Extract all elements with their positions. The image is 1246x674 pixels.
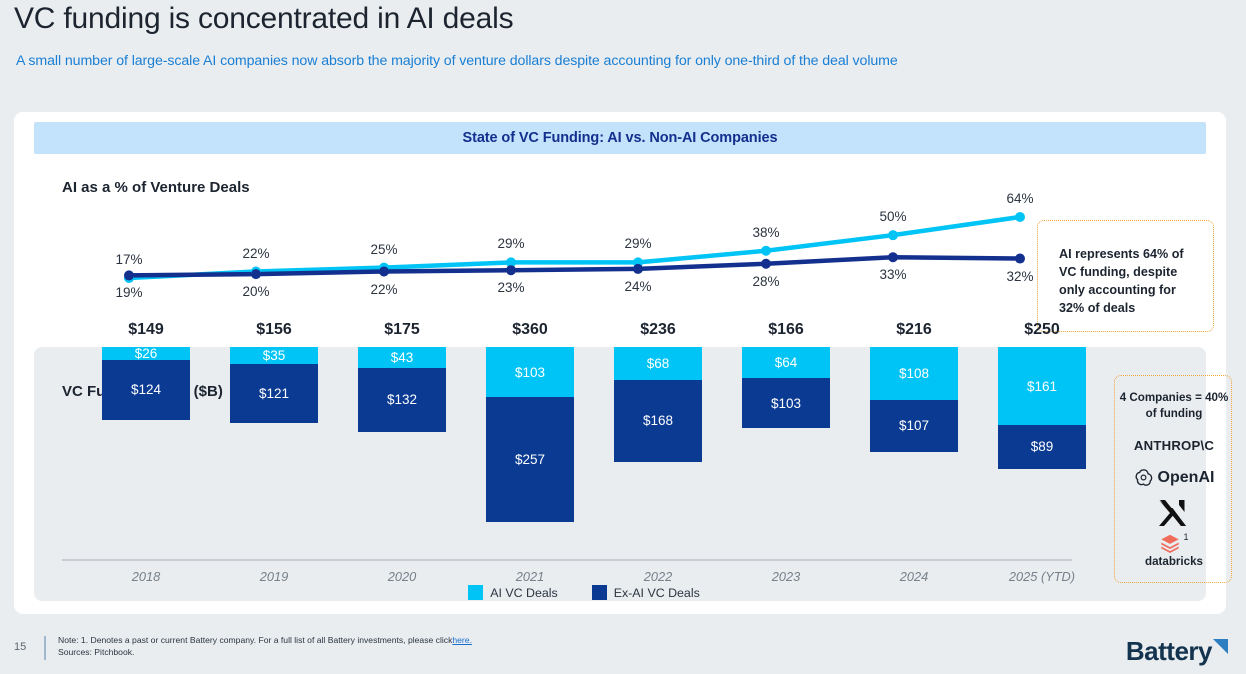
line-value-label-count: 20% [242,284,269,299]
bar-total-label: $250 [1024,321,1060,339]
line-data-point [761,246,771,256]
anthropic-logo: ANTHROP\C [1134,438,1214,453]
legend-item-ai-vc-deals[interactable]: AI VC Deals [468,585,557,600]
line-value-label-funding: 50% [879,209,906,224]
openai-mark-icon [1134,468,1153,487]
page-title: VC funding is concentrated in AI deals [14,2,513,36]
page-subtitle: A small number of large-scale AI compani… [16,53,898,69]
line-value-label-count: 28% [752,274,779,289]
databricks-mark-row: 1 [1159,532,1188,554]
line-data-point [379,267,389,277]
line-value-label-count: 32% [1006,269,1033,284]
battery-logo: Battery [1126,636,1228,667]
company-logo-databricks: 1 databricks [1115,532,1233,568]
legend-item-ex-ai-vc-deals[interactable]: Ex-AI VC Deals [592,585,700,600]
bar-chart-legend: AI VC Deals Ex-AI VC Deals [34,585,1134,600]
footer-note-text: Note: 1. Denotes a past or current Batte… [58,635,452,645]
bar-segment-ex-ai[interactable]: $124 [102,360,190,420]
line-data-point [251,269,261,279]
line-value-label-funding: 38% [752,225,779,240]
chart-banner-label: State of VC Funding: AI vs. Non-AI Compa… [463,130,778,146]
bar-segment-ai[interactable]: $108 [870,347,958,400]
battery-wordmark: Battery [1126,636,1212,667]
line-value-label-funding: 17% [115,252,142,267]
line-chart-callout: AI represents 64% of VC funding, despite… [1037,220,1214,332]
page-number: 15 [14,641,26,653]
line-data-point [761,259,771,269]
bar-segment-ex-ai[interactable]: $121 [230,364,318,423]
databricks-mark-icon [1159,532,1181,554]
line-data-point [888,230,898,240]
footer-note: Note: 1. Denotes a past or current Batte… [58,634,472,658]
line-value-label-funding: 29% [497,236,524,251]
bar-x-axis-label: 2021 [486,569,574,584]
bar-x-axis-label: 2022 [614,569,702,584]
bar-x-axis-label: 2023 [742,569,830,584]
line-data-point [1015,254,1025,264]
bar-x-axis-label: 2024 [870,569,958,584]
bar-chart-callout: 4 Companies = 40% of funding ANTHROP\C O… [1114,375,1232,583]
bar-total-label: $156 [256,321,292,339]
bar-column[interactable]: $216$108$107 [870,347,958,452]
line-data-point [888,252,898,262]
bar-total-label: $236 [640,321,676,339]
bar-chart-plot: $149$26$1242018$156$35$1212019$175$43$13… [62,347,1072,559]
bar-total-label: $149 [128,321,164,339]
bar-segment-ex-ai[interactable]: $132 [358,368,446,432]
bar-column[interactable]: $360$103$257 [486,347,574,522]
xai-logo-icon [1157,498,1191,528]
bar-total-label: $360 [512,321,548,339]
line-data-point [506,265,516,275]
line-value-label-funding: 64% [1006,191,1033,206]
databricks-logo: 1 databricks [1145,532,1203,568]
company-logo-xai [1115,498,1233,528]
bar-total-label: $175 [384,321,420,339]
battery-mark-icon [1213,639,1228,654]
footer: 15 Note: 1. Denotes a past or current Ba… [0,634,1246,674]
openai-wordmark: OpenAI [1158,469,1215,487]
slide: VC funding is concentrated in AI deals A… [0,0,1246,674]
legend-label: Ex-AI VC Deals [614,586,700,600]
bar-x-axis-label: 2018 [102,569,190,584]
line-data-point [633,264,643,274]
bar-segment-ai[interactable]: $161 [998,347,1086,425]
bar-segment-ai[interactable]: $103 [486,347,574,397]
chart-banner: State of VC Funding: AI vs. Non-AI Compa… [34,122,1206,154]
bar-column[interactable]: $175$43$132 [358,347,446,432]
line-value-label-count: 19% [115,285,142,300]
bar-segment-ex-ai[interactable]: $257 [486,397,574,522]
legend-label: AI VC Deals [490,586,557,600]
bar-segment-ex-ai[interactable]: $89 [998,425,1086,468]
bar-column[interactable]: $166$64$103 [742,347,830,428]
footer-note-link[interactable]: here. [452,635,472,645]
databricks-footnote-marker: 1 [1183,532,1188,542]
line-value-label-count: 23% [497,280,524,295]
bar-total-label: $216 [896,321,932,339]
bar-x-axis-label: 2025 (YTD) [998,569,1086,584]
line-value-label-count: 24% [624,279,651,294]
bar-x-axis-label: 2020 [358,569,446,584]
legend-swatch-icon [592,585,607,600]
bar-chart-axis-line [62,559,1072,561]
line-data-point [124,270,134,280]
footer-sources-text: Sources: Pitchbook. [58,647,134,657]
line-chart-callout-text: AI represents 64% of VC funding, despite… [1059,246,1199,318]
company-logo-openai: OpenAI [1115,468,1233,487]
line-value-label-funding: 25% [370,242,397,257]
bar-total-label: $166 [768,321,804,339]
bar-column[interactable]: $236$68$168 [614,347,702,462]
line-value-label-count: 22% [370,282,397,297]
line-chart: AI as a % of Venture Deals 17%22%25%29%2… [14,160,1226,375]
bar-segment-ai[interactable]: $68 [614,347,702,380]
bar-segment-ai[interactable]: $64 [742,347,830,378]
bar-column[interactable]: $156$35$121 [230,347,318,423]
line-value-label-funding: 22% [242,246,269,261]
line-value-label-count: 33% [879,267,906,282]
bar-x-axis-label: 2019 [230,569,318,584]
bar-segment-ai[interactable]: $35 [230,347,318,364]
bar-segment-ex-ai[interactable]: $107 [870,400,958,452]
openai-logo: OpenAI [1134,468,1215,487]
bar-column[interactable]: $250$161$89 [998,347,1086,469]
bar-segment-ex-ai[interactable]: $168 [614,380,702,462]
footer-divider [44,636,46,660]
bar-segment-ai[interactable]: $26 [102,347,190,360]
databricks-wordmark: databricks [1145,555,1203,568]
legend-swatch-icon [468,585,483,600]
bar-segment-ex-ai[interactable]: $103 [742,378,830,428]
bar-column[interactable]: $149$26$124 [102,347,190,420]
bar-segment-ai[interactable]: $43 [358,347,446,368]
line-value-label-funding: 29% [624,236,651,251]
chart-card: State of VC Funding: AI vs. Non-AI Compa… [14,112,1226,614]
bar-chart: VC Funding Value ($B) $149$26$1242018$15… [34,347,1206,601]
bar-chart-callout-title: 4 Companies = 40% of funding [1115,390,1233,422]
company-logo-anthropic: ANTHROP\C [1115,438,1233,453]
line-data-point [1015,212,1025,222]
